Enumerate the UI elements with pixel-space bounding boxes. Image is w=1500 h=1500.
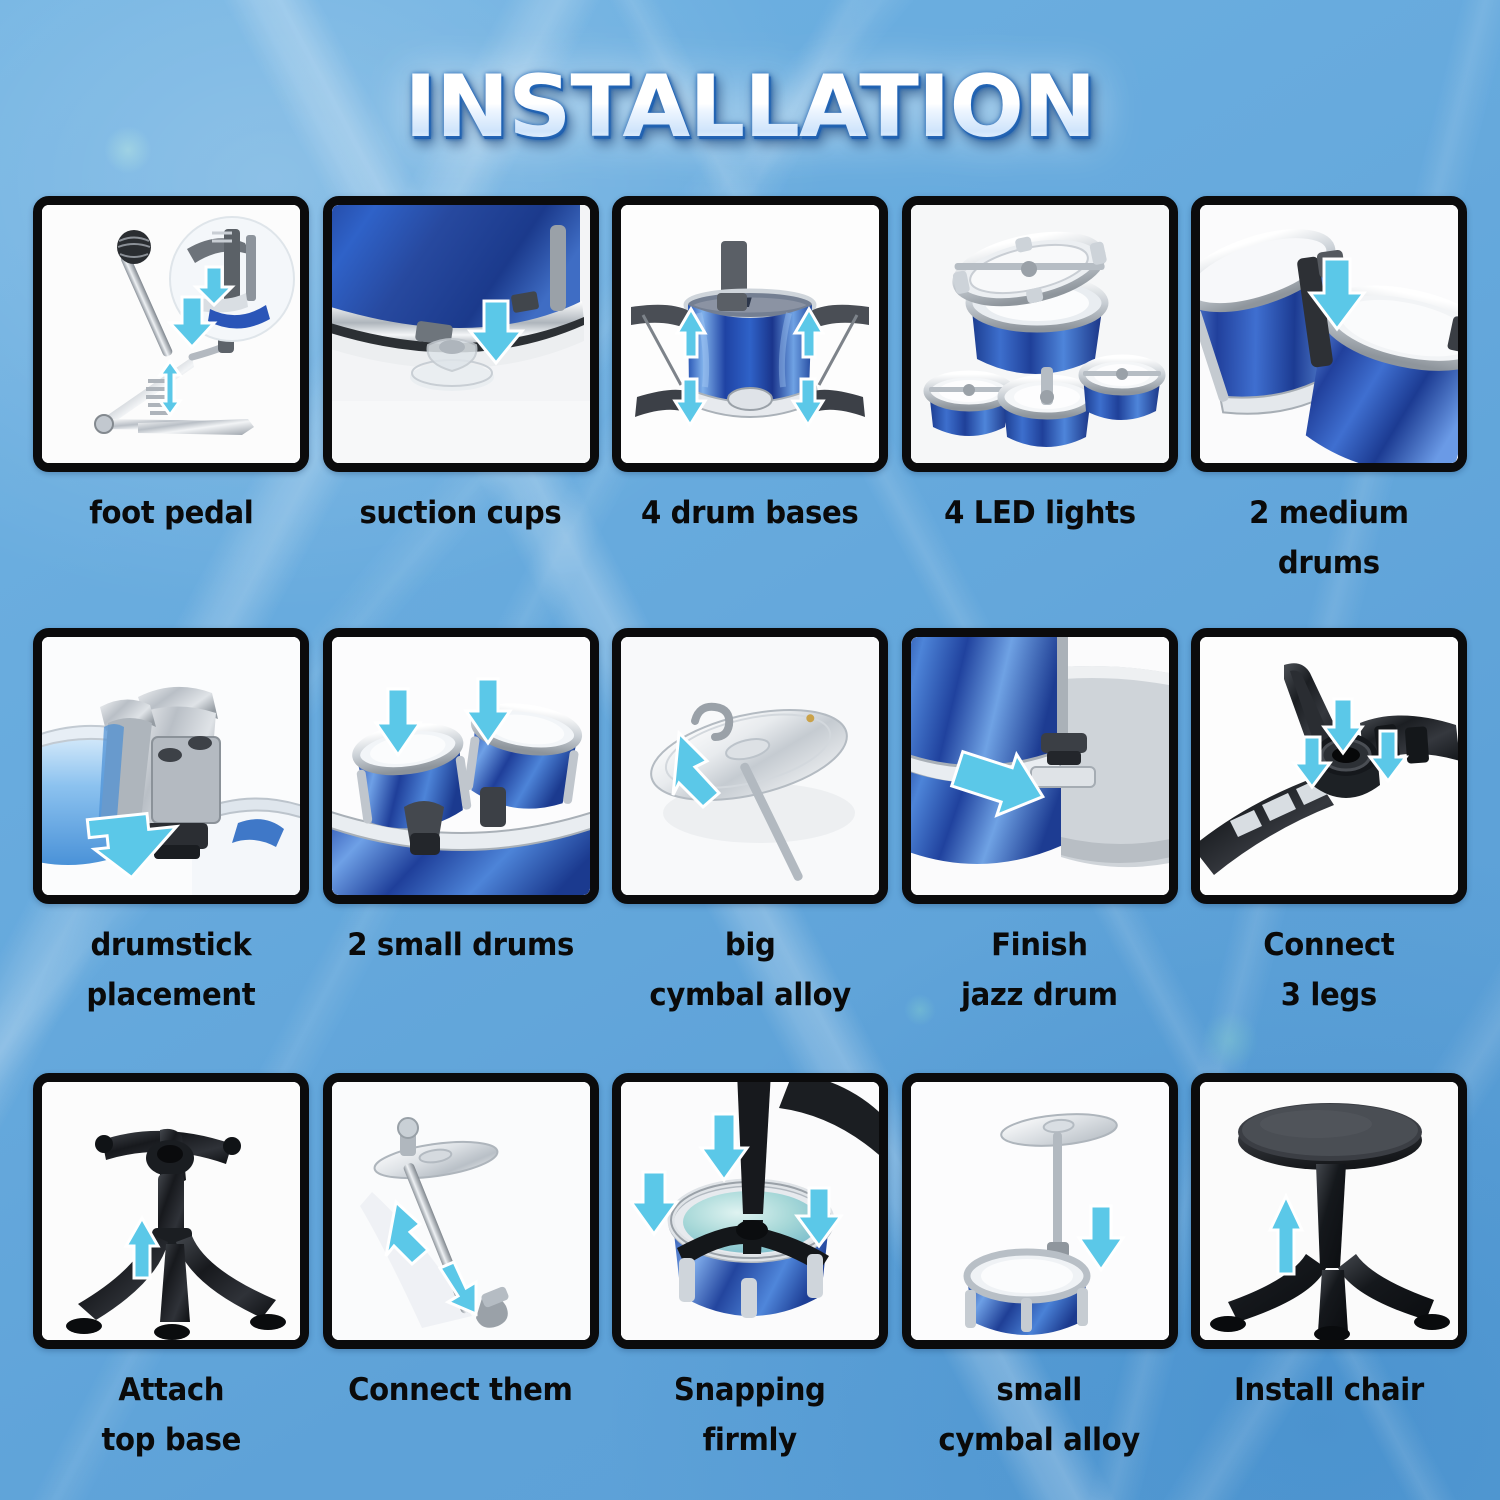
step-card-small-drums[interactable]: 2 small drums <box>323 628 599 1073</box>
photo-connect-them <box>332 1082 590 1340</box>
step-image-frame <box>1191 1073 1467 1349</box>
photo-medium-drums <box>1200 205 1458 463</box>
step-caption: big cymbal alloy <box>649 920 850 1020</box>
step-image-frame <box>33 628 309 904</box>
connect-legs-illustration <box>1200 637 1458 895</box>
photo-install-chair <box>1200 1082 1458 1340</box>
step-image-frame <box>33 1073 309 1349</box>
step-card-attach-top-base[interactable]: Attach top base <box>33 1073 309 1493</box>
step-caption: Connect 3 legs <box>1263 920 1394 1020</box>
steps-row-2: drumstick placement <box>0 628 1500 1073</box>
step-image-frame <box>612 196 888 472</box>
connect-them-illustration <box>332 1082 590 1340</box>
photo-foot-pedal <box>42 205 300 463</box>
step-caption: 2 medium drums <box>1249 488 1409 588</box>
photo-small-drums <box>332 637 590 895</box>
attach-top-base-illustration <box>42 1082 300 1340</box>
suction-cups-illustration <box>332 205 590 463</box>
step-image-frame <box>902 628 1178 904</box>
drumstick-placement-illustration <box>42 637 300 895</box>
page-title-container: INSTALLATION <box>0 64 1500 150</box>
steps-row-1: foot pedal <box>0 196 1500 628</box>
medium-drums-illustration <box>1200 205 1458 463</box>
step-caption: 4 drum bases <box>641 488 858 538</box>
small-drums-illustration <box>332 637 590 895</box>
step-caption: 2 small drums <box>347 920 574 970</box>
step-image-frame <box>33 196 309 472</box>
photo-big-cymbal <box>621 637 879 895</box>
step-card-connect-legs[interactable]: Connect 3 legs <box>1191 628 1467 1073</box>
step-card-medium-drums[interactable]: 2 medium drums <box>1191 196 1467 628</box>
step-image-frame <box>323 1073 599 1349</box>
step-image-frame <box>612 628 888 904</box>
step-caption: Attach top base <box>101 1365 241 1465</box>
page-title: INSTALLATION <box>404 64 1095 150</box>
step-caption: Install chair <box>1234 1365 1424 1415</box>
photo-connect-legs <box>1200 637 1458 895</box>
photo-led-lights <box>911 205 1169 463</box>
step-card-finish-jazz-drum[interactable]: Finish jazz drum <box>902 628 1178 1073</box>
step-image-frame <box>902 1073 1178 1349</box>
step-caption: 4 LED lights <box>944 488 1136 538</box>
step-image-frame <box>1191 196 1467 472</box>
step-card-drumstick-placement[interactable]: drumstick placement <box>33 628 309 1073</box>
step-caption: Connect them <box>348 1365 572 1415</box>
small-cymbal-illustration <box>911 1082 1169 1340</box>
step-caption: suction cups <box>360 488 562 538</box>
step-card-install-chair[interactable]: Install chair <box>1191 1073 1467 1493</box>
photo-small-cymbal <box>911 1082 1169 1340</box>
step-card-foot-pedal[interactable]: foot pedal <box>33 196 309 628</box>
installation-steps-grid: foot pedal <box>0 196 1500 1493</box>
steps-row-3: Attach top base <box>0 1073 1500 1493</box>
snapping-firmly-illustration <box>621 1082 879 1340</box>
step-caption: foot pedal <box>89 488 253 538</box>
photo-drum-bases <box>621 205 879 463</box>
step-image-frame <box>612 1073 888 1349</box>
install-chair-illustration <box>1200 1082 1458 1340</box>
step-caption: Finish jazz drum <box>961 920 1118 1020</box>
step-card-big-cymbal[interactable]: big cymbal alloy <box>612 628 888 1073</box>
photo-attach-top-base <box>42 1082 300 1340</box>
step-image-frame <box>323 196 599 472</box>
step-card-led-lights[interactable]: 4 LED lights <box>902 196 1178 628</box>
step-card-suction-cups[interactable]: suction cups <box>323 196 599 628</box>
step-image-frame <box>902 196 1178 472</box>
foot-pedal-illustration <box>42 205 300 463</box>
photo-snapping-firmly <box>621 1082 879 1340</box>
big-cymbal-illustration <box>621 637 879 895</box>
step-image-frame <box>1191 628 1467 904</box>
step-card-small-cymbal[interactable]: small cymbal alloy <box>902 1073 1178 1493</box>
step-image-frame <box>323 628 599 904</box>
photo-suction-cups <box>332 205 590 463</box>
step-card-drum-bases[interactable]: 4 drum bases <box>612 196 888 628</box>
photo-drumstick-placement <box>42 637 300 895</box>
step-caption: drumstick placement <box>87 920 256 1020</box>
step-card-snapping-firmly[interactable]: Snapping firmly <box>612 1073 888 1493</box>
step-card-connect-them[interactable]: Connect them <box>323 1073 599 1493</box>
step-caption: Snapping firmly <box>674 1365 826 1465</box>
finish-jazz-drum-illustration <box>911 637 1169 895</box>
drum-bases-illustration <box>621 205 879 463</box>
led-lights-illustration <box>911 205 1169 463</box>
step-caption: small cymbal alloy <box>939 1365 1140 1465</box>
photo-finish-jazz-drum <box>911 637 1169 895</box>
